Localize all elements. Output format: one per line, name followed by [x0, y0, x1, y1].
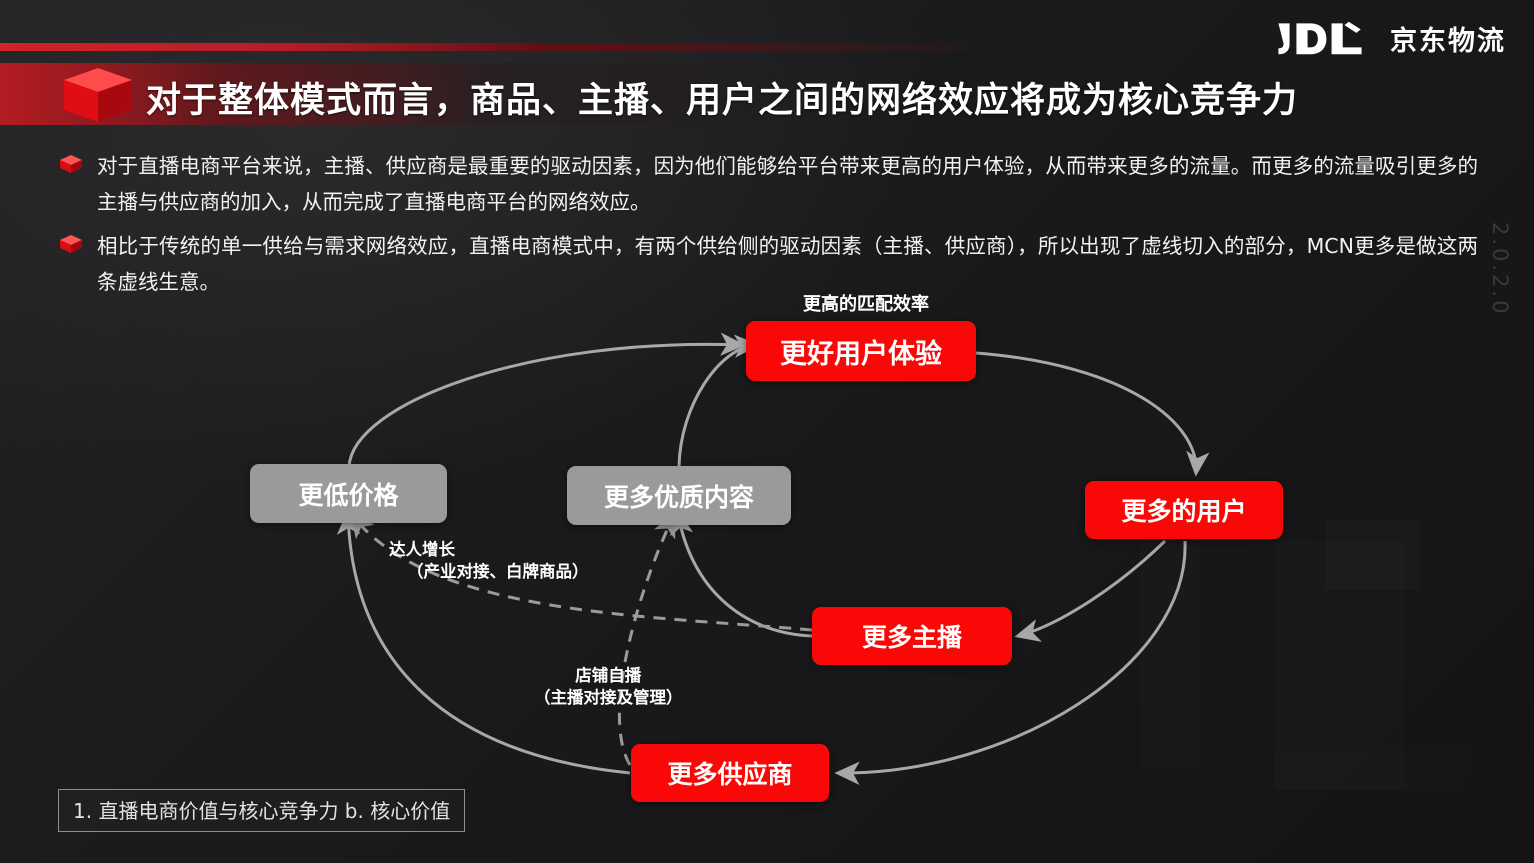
network-effect-diagram: 更高的匹配效率 更好用户体验 更低价格 更多优质内容 更多的用户 更多主播 更多… [0, 285, 1534, 845]
page-title: 对于整体模式而言，商品、主播、用户之间的网络效应将成为核心竞争力 [146, 72, 1298, 123]
brand-logo: 京东物流 [1275, 18, 1506, 58]
red-cube-bullet-icon [58, 153, 84, 180]
node-more-users[interactable]: 更多的用户 [1085, 481, 1283, 539]
node-label: 更多优质内容 [604, 478, 754, 514]
header-accent-bar [0, 43, 1000, 51]
node-label: 更多主播 [862, 618, 962, 654]
node-label: 更好用户体验 [780, 332, 942, 371]
bullet-list: 对于直播电商平台来说，主播、供应商是最重要的驱动因素，因为他们能够给平台带来更高… [58, 148, 1478, 308]
edge-label-line1: 店铺自播 [534, 665, 683, 687]
red-cube-bullet-icon [58, 233, 84, 260]
node-lower-price[interactable]: 更低价格 [250, 464, 447, 523]
node-label: 更低价格 [298, 476, 398, 512]
edge-label-line1: 达人增长 [389, 539, 589, 561]
jdl-logo-icon [1275, 20, 1378, 56]
slide-root: 对于整体模式而言，商品、主播、用户之间的网络效应将成为核心竞争力 京东物流 对于… [0, 0, 1534, 863]
edge-label-talent-growth: 达人增长 （产业对接、白牌商品） [389, 539, 589, 583]
node-label: 更多供应商 [667, 755, 792, 791]
node-more-suppliers[interactable]: 更多供应商 [631, 744, 829, 802]
edge-label-store-self-broadcast: 店铺自播 （主播对接及管理） [534, 665, 683, 709]
node-better-experience[interactable]: 更好用户体验 [746, 321, 976, 381]
edge-label-line2: （产业对接、白牌商品） [389, 561, 589, 583]
brand-logo-text: 京东物流 [1390, 19, 1506, 58]
bullet-text: 对于直播电商平台来说，主播、供应商是最重要的驱动因素，因为他们能够给平台带来更高… [97, 148, 1478, 220]
node-more-quality-content[interactable]: 更多优质内容 [567, 466, 791, 525]
node-more-streamers[interactable]: 更多主播 [812, 607, 1012, 665]
red-cube-icon [58, 64, 138, 124]
diagram-top-label: 更高的匹配效率 [803, 290, 929, 316]
edge-label-line2: （主播对接及管理） [534, 687, 683, 709]
node-label: 更多的用户 [1121, 492, 1246, 528]
bullet-item: 对于直播电商平台来说，主播、供应商是最重要的驱动因素，因为他们能够给平台带来更高… [58, 148, 1478, 220]
